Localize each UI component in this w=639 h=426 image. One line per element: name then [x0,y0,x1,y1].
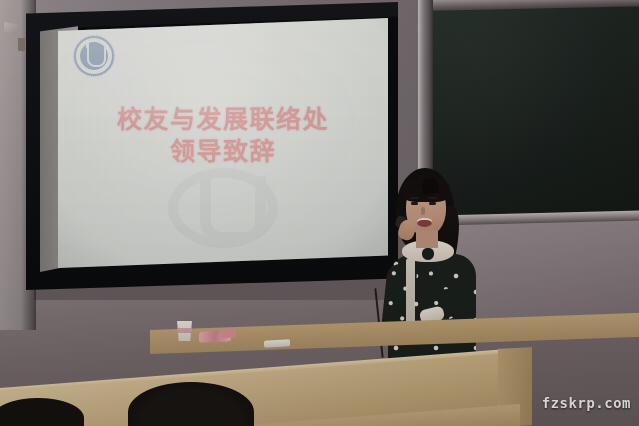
paper-cup-band [178,328,191,333]
slide-title: 校友与发展联络处 领导致辞 [58,104,388,168]
wall-mount-icon [18,38,25,51]
nose [421,207,425,215]
photo-scene: 校友与发展联络处 领导致辞 [0,0,639,426]
white-paper-on-desk [264,339,290,347]
slide-title-line-2: 领导致辞 [58,136,388,168]
dress-placket [406,258,415,330]
site-watermark: fzskrp.com [542,396,631,412]
eye-left [411,202,418,205]
university-emblem-icon [74,36,114,76]
slide-title-line-1: 校友与发展联络处 [117,105,329,134]
projection-screen-surface: 校友与发展联络处 领导致辞 [58,18,388,268]
mouth-speaking [417,218,432,227]
neck [416,230,438,248]
pink-package-secondary [222,329,236,339]
eye-right [429,202,436,205]
slide-background-watermark-icon [168,168,278,248]
